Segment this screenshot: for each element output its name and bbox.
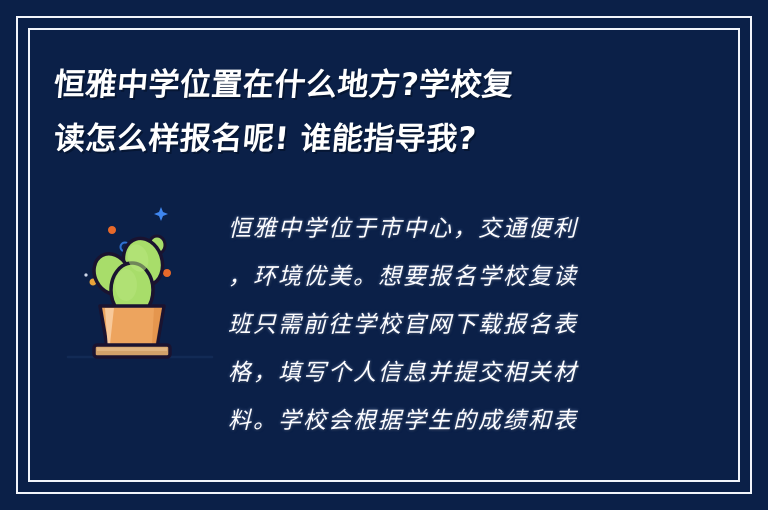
body-line-5: 料。学校会根据学生的成绩和表 xyxy=(228,397,648,445)
body-line-1: 恒雅中学位于市中心，交通便利 xyxy=(228,205,648,253)
potted-cactus-illustration xyxy=(60,190,220,380)
page-title: 恒雅中学位置在什么地方?学校复 读怎么样报名呢! 谁能指导我? xyxy=(54,58,694,166)
body-line-4: 格，填写个人信息并提交相关材 xyxy=(228,349,648,397)
sparkle-icon xyxy=(154,207,168,221)
body-line-3: 班只需前往学校官网下载报名表 xyxy=(228,301,648,349)
body-line-2: ，环境优美。想要报名学校复读 xyxy=(228,253,648,301)
body-paragraph: 恒雅中学位于市中心，交通便利 ，环境优美。想要报名学校复读 班只需前往学校官网下… xyxy=(228,205,648,445)
promo-card: 恒雅中学位置在什么地方?学校复 读怎么样报名呢! 谁能指导我? xyxy=(0,0,768,510)
dot-orange-upper xyxy=(108,226,116,234)
dot-orange-right xyxy=(163,269,171,277)
title-line-2: 读怎么样报名呢! 谁能指导我? xyxy=(52,112,697,166)
title-line-1: 恒雅中学位置在什么地方?学校复 xyxy=(52,58,697,112)
dot-white-left xyxy=(84,273,87,276)
